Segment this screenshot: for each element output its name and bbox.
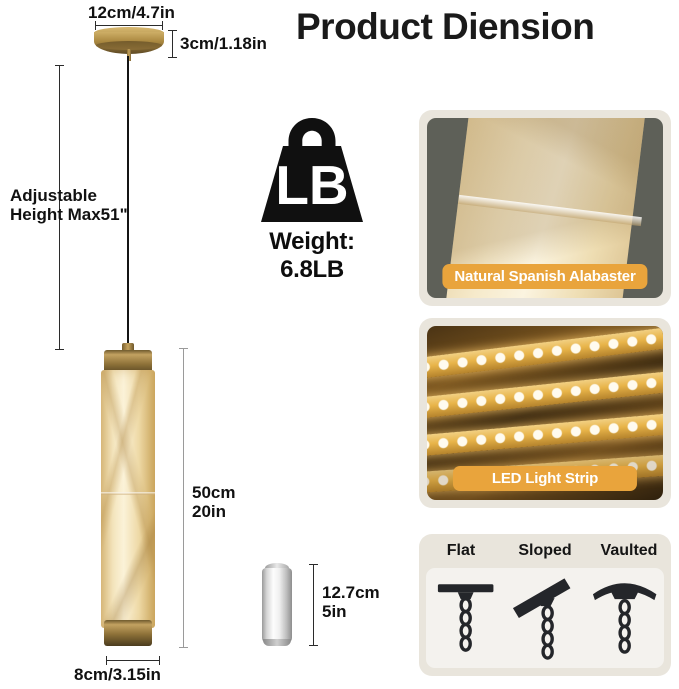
ceiling-canopy — [94, 27, 164, 59]
alabaster-photo: Natural Spanish Alabaster — [427, 118, 663, 298]
shade-width-label: 8cm/3.15in — [74, 665, 161, 684]
page-title: Product Diension — [296, 6, 594, 48]
alabaster-badge-label: Natural Spanish Alabaster — [442, 264, 647, 289]
ceiling-types-header: Flat Sloped Vaulted — [419, 534, 671, 568]
sloped-ceiling-chain-icon — [505, 568, 584, 668]
tube-seam — [101, 492, 155, 495]
canopy-width-dimension-line — [95, 25, 163, 26]
led-badge-label: LED Light Strip — [453, 466, 637, 491]
product-dimension-infographic: Product Diension 12cm/4.7in 3cm/1.18in A… — [0, 0, 679, 689]
canopy-height-label: 3cm/1.18in — [180, 34, 267, 53]
ceiling-type-sloped — [505, 568, 584, 668]
soda-can-scale-reference — [262, 563, 292, 646]
adjustable-height-line2: Height Max51" — [10, 205, 128, 224]
weight-label: Weight: 6.8LB — [237, 228, 387, 284]
can-body — [262, 568, 292, 643]
can-height-dimension-line — [313, 564, 314, 646]
ceiling-type-label-sloped: Sloped — [503, 542, 587, 560]
canopy-width-label: 12cm/4.7in — [88, 3, 175, 22]
canopy-height-dimension-line — [172, 30, 173, 58]
ceiling-types-icons — [426, 568, 664, 668]
shade-width-dimension-line — [106, 660, 160, 661]
can-height-label: 12.7cm 5in — [322, 583, 380, 621]
card-ceiling-types[interactable]: Flat Sloped Vaulted — [419, 534, 671, 676]
alabaster-tube-shade — [101, 350, 155, 646]
tube-bottom-cap — [104, 620, 152, 646]
shade-height-dimension-line — [183, 348, 184, 648]
ceiling-type-label-vaulted: Vaulted — [587, 542, 671, 560]
can-height-cm: 12.7cm — [322, 583, 380, 602]
shade-height-cm: 50cm — [192, 483, 235, 502]
led-photo: LED Light Strip — [427, 326, 663, 500]
ceiling-type-label-flat: Flat — [419, 542, 503, 560]
weight-block: LB Weight: 6.8LB — [237, 116, 387, 284]
weight-bag-icon: LB — [250, 116, 374, 224]
card-natural-spanish-alabaster[interactable]: Natural Spanish Alabaster — [419, 110, 671, 306]
shade-height-in: 20in — [192, 502, 226, 521]
weight-icon-text: LB — [275, 154, 348, 216]
ceiling-type-flat — [426, 568, 505, 668]
adjustable-height-label: Adjustable Height Max51" — [10, 186, 128, 224]
vaulted-ceiling-chain-icon — [585, 568, 664, 668]
can-height-in: 5in — [322, 602, 347, 621]
tube-alabaster-body — [101, 370, 155, 628]
shade-height-label: 50cm 20in — [192, 483, 235, 521]
adjustable-height-line1: Adjustable — [10, 186, 97, 205]
can-bottom — [263, 639, 291, 646]
card-led-light-strip[interactable]: LED Light Strip — [419, 318, 671, 508]
ceiling-type-vaulted — [585, 568, 664, 668]
flat-ceiling-chain-icon — [426, 568, 505, 668]
